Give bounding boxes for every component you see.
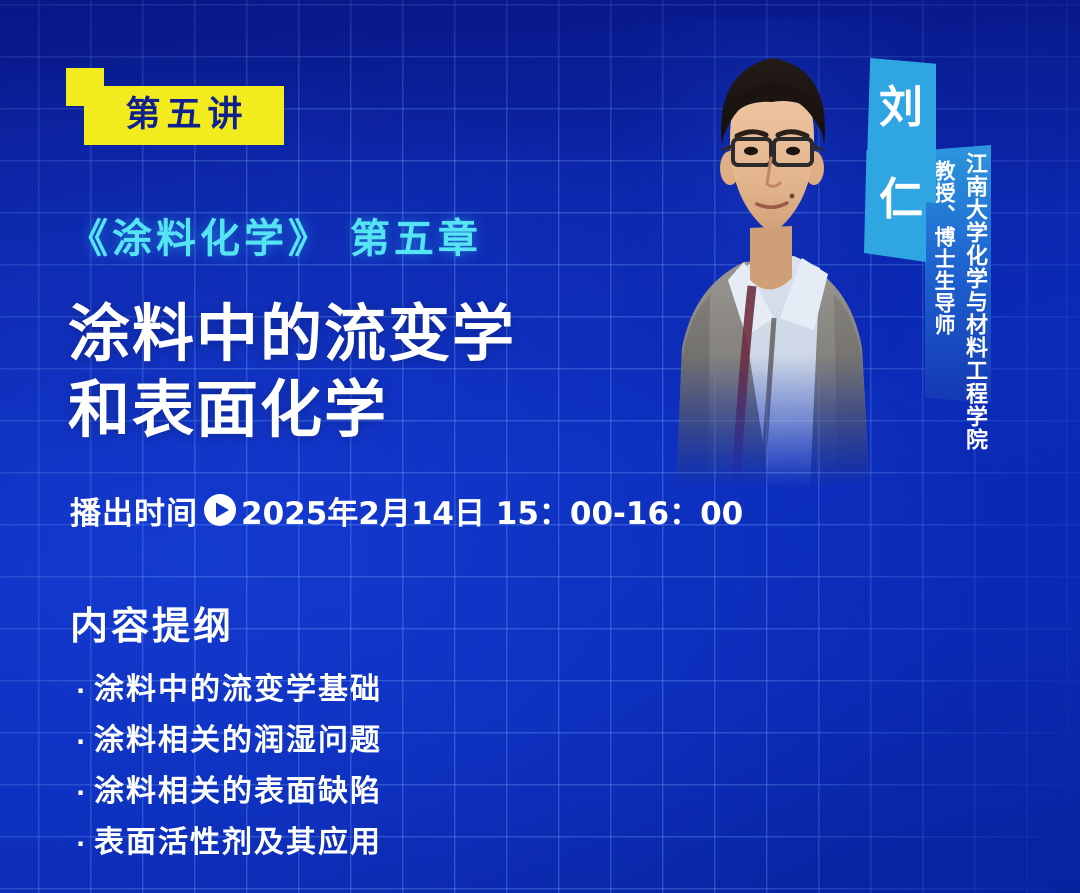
list-item-label: 涂料相关的表面缺陷 xyxy=(94,766,382,810)
play-icon[interactable] xyxy=(203,493,237,527)
bullet-dot: · xyxy=(76,730,94,754)
speaker-name: 刘 仁 xyxy=(872,62,930,246)
list-item-label: 涂料相关的润湿问题 xyxy=(94,715,382,759)
airtime-value: 2025年2月14日 15：00-16：00 xyxy=(241,488,743,533)
list-item-label: 涂料中的流变学基础 xyxy=(94,664,382,708)
bullet-dot: · xyxy=(76,679,94,703)
list-item: · 涂料相关的表面缺陷 xyxy=(76,766,382,817)
lecture-number-badge: 第五讲 xyxy=(84,86,284,145)
page-title-line-1: 涂料中的流变学 xyxy=(68,296,688,372)
speaker-name-char-1: 刘 xyxy=(872,62,930,154)
page-title: 涂料中的流变学 和表面化学 xyxy=(68,296,688,448)
bullet-dot: · xyxy=(76,781,94,805)
speaker-name-char-2: 仁 xyxy=(872,154,930,246)
bullet-dot: · xyxy=(76,832,94,856)
list-item: · 涂料相关的润湿问题 xyxy=(76,715,382,766)
airtime-row: 播出时间 2025年2月14日 15：00-16：00 xyxy=(70,489,743,531)
page-title-line-2: 和表面化学 xyxy=(68,372,688,448)
lecture-poster: 第五讲 《涂料化学》 第五章 涂料中的流变学 和表面化学 播出时间 2025年2… xyxy=(0,0,1080,893)
speaker-organization: 江南大学化学与材料工程学院 xyxy=(958,152,990,451)
list-item: · 涂料中的流变学基础 xyxy=(76,664,382,715)
outline-heading: 内容提纲 xyxy=(70,595,234,650)
list-item: · 表面活性剂及其应用 xyxy=(76,817,382,868)
course-subtitle: 《涂料化学》 第五章 xyxy=(68,206,482,264)
airtime-label: 播出时间 xyxy=(70,488,198,533)
outline-list: · 涂料中的流变学基础 · 涂料相关的润湿问题 · 涂料相关的表面缺陷 · 表面… xyxy=(76,664,382,868)
lecture-number-label: 第五讲 xyxy=(119,98,248,133)
list-item-label: 表面活性剂及其应用 xyxy=(94,817,382,861)
